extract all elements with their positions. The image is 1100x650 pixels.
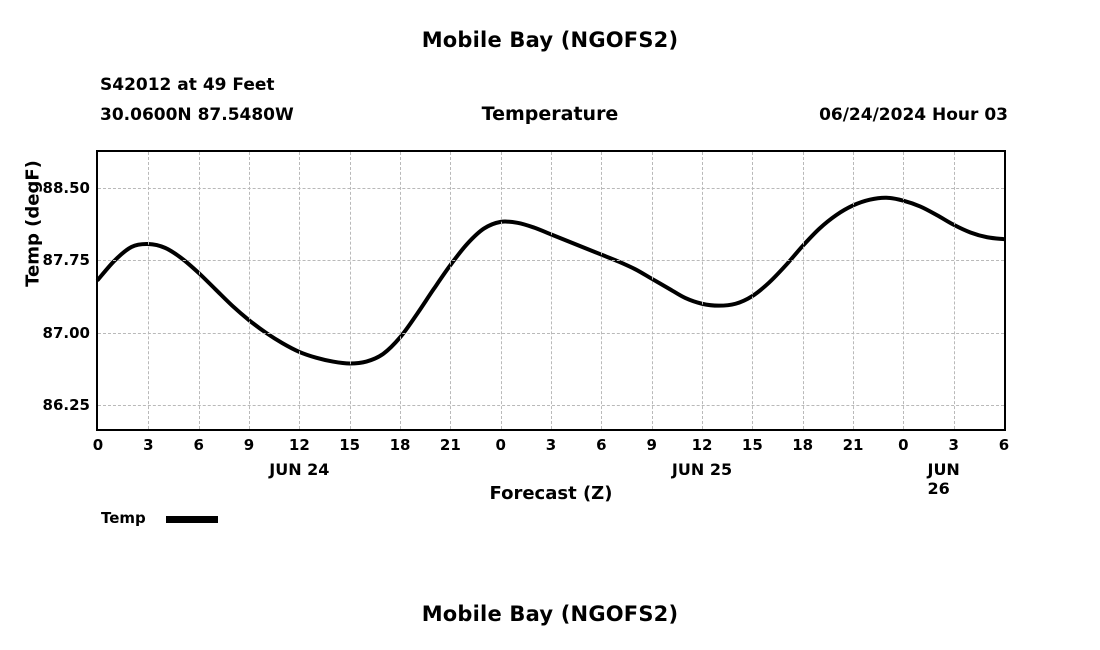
gridline-vertical [249, 152, 250, 429]
legend-swatch [166, 516, 218, 523]
legend-label: Temp [101, 509, 146, 527]
x-axis-ticks: 036912151821036912151821036 [96, 436, 1006, 458]
x-tick-label: 6 [999, 436, 1009, 454]
x-tick-label: 18 [792, 436, 813, 454]
gridline-horizontal [98, 188, 1004, 189]
gridline-vertical [601, 152, 602, 429]
x-tick-label: 18 [390, 436, 411, 454]
x-tick-label: 0 [495, 436, 505, 454]
x-tick-label: 6 [193, 436, 203, 454]
gridline-vertical [903, 152, 904, 429]
gridline-vertical [350, 152, 351, 429]
gridline-vertical [551, 152, 552, 429]
gridline-vertical [400, 152, 401, 429]
gridline-horizontal [98, 405, 1004, 406]
gridline-vertical [954, 152, 955, 429]
y-axis-ticks: 86.2587.0087.7588.50 [22, 150, 90, 431]
x-axis-day-labels: JUN 24JUN 25JUN 26 [96, 460, 1006, 484]
x-tick-label: 3 [948, 436, 958, 454]
x-tick-label: 12 [289, 436, 310, 454]
x-tick-label: 21 [843, 436, 864, 454]
y-tick-label: 88.50 [43, 179, 90, 197]
x-tick-label: 3 [143, 436, 153, 454]
x-tick-label: 21 [440, 436, 461, 454]
model-run-label: 06/24/2024 Hour 03 [819, 105, 1008, 125]
y-tick-label: 86.25 [43, 396, 90, 414]
page-title: Mobile Bay (NGOFS2) [0, 28, 1100, 52]
x-axis-label: Forecast (Z) [96, 483, 1006, 504]
x-tick-label: 3 [546, 436, 556, 454]
gridline-vertical [199, 152, 200, 429]
y-tick-label: 87.75 [43, 251, 90, 269]
x-tick-label: 9 [646, 436, 656, 454]
footer-title: Mobile Bay (NGOFS2) [0, 602, 1100, 626]
x-day-label: JUN 24 [269, 460, 329, 479]
gridline-vertical [148, 152, 149, 429]
gridline-vertical [299, 152, 300, 429]
gridline-vertical [652, 152, 653, 429]
plot-area [96, 150, 1006, 431]
gridline-vertical [501, 152, 502, 429]
gridline-vertical [853, 152, 854, 429]
station-id-label: S42012 at 49 Feet [100, 75, 275, 95]
x-tick-label: 0 [898, 436, 908, 454]
gridline-vertical [450, 152, 451, 429]
gridline-vertical [803, 152, 804, 429]
x-tick-label: 6 [596, 436, 606, 454]
x-day-label: JUN 25 [672, 460, 732, 479]
x-tick-label: 15 [339, 436, 360, 454]
x-tick-label: 9 [244, 436, 254, 454]
gridline-horizontal [98, 260, 1004, 261]
x-tick-label: 15 [742, 436, 763, 454]
x-tick-label: 0 [93, 436, 103, 454]
gridline-vertical [752, 152, 753, 429]
gridline-horizontal [98, 333, 1004, 334]
x-tick-label: 12 [692, 436, 713, 454]
y-tick-label: 87.00 [43, 324, 90, 342]
gridline-vertical [702, 152, 703, 429]
chart-page: Mobile Bay (NGOFS2) S42012 at 49 Feet 30… [0, 0, 1100, 650]
